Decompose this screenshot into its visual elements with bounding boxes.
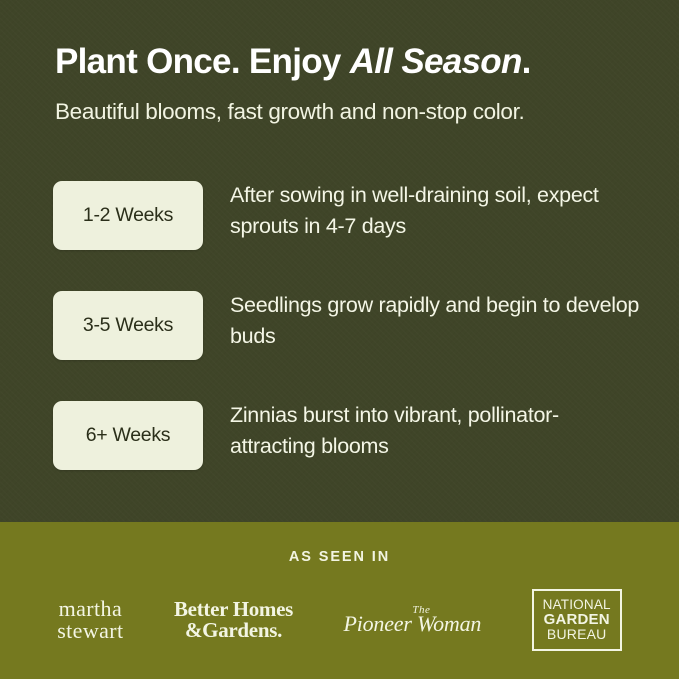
timeline-badge-label: 6+ Weeks (86, 424, 171, 447)
logo-national-garden-bureau: NATIONAL GARDEN BUREAU (532, 589, 622, 651)
press-logo-row: martha stewart Better Homes &Gardens. Th… (0, 584, 679, 656)
logo-martha-stewart-line-2: stewart (57, 620, 123, 642)
headline-part-1: Plant Once. Enjoy (55, 42, 350, 81)
page-title: Plant Once. Enjoy All Season. (55, 44, 655, 81)
logo-martha-stewart-line-1: martha (59, 598, 122, 620)
timeline-badge-1: 1-2 Weeks (53, 181, 203, 250)
list-item: 1-2 Weeks After sowing in well-draining … (53, 181, 643, 291)
logo-bhg-line-2: &Gardens. (185, 620, 282, 641)
list-item: 6+ Weeks Zinnias burst into vibrant, pol… (53, 401, 643, 511)
timeline-description-1: After sowing in well-draining soil, expe… (230, 180, 642, 241)
hero-panel: Plant Once. Enjoy All Season. Beautiful … (0, 0, 679, 522)
logo-bhg-line-1: Better Homes (174, 599, 293, 620)
timeline-badge-label: 3-5 Weeks (83, 314, 173, 337)
timeline-description-2: Seedlings grow rapidly and begin to deve… (230, 290, 642, 351)
logo-ngb-line-3: BUREAU (547, 627, 607, 641)
logo-pioneer-line-2: Pioneer Woman (343, 613, 481, 635)
as-seen-in-band: AS SEEN IN martha stewart Better Homes &… (0, 522, 679, 679)
logo-ngb-line-2: GARDEN (544, 612, 610, 627)
as-seen-in-title: AS SEEN IN (0, 549, 679, 565)
headline-part-2: . (522, 42, 531, 81)
logo-the-pioneer-woman: The Pioneer Woman (343, 605, 481, 635)
timeline-badge-2: 3-5 Weeks (53, 291, 203, 360)
page-subtitle: Beautiful blooms, fast growth and non-st… (55, 98, 665, 125)
logo-ngb-line-1: NATIONAL (543, 598, 611, 612)
timeline-description-3: Zinnias burst into vibrant, pollinator-a… (230, 400, 642, 461)
list-item: 3-5 Weeks Seedlings grow rapidly and beg… (53, 291, 643, 401)
logo-martha-stewart: martha stewart (57, 598, 123, 642)
growth-timeline-list: 1-2 Weeks After sowing in well-draining … (53, 181, 643, 511)
logo-better-homes-and-gardens: Better Homes &Gardens. (174, 599, 293, 640)
timeline-badge-3: 6+ Weeks (53, 401, 203, 470)
timeline-badge-label: 1-2 Weeks (83, 204, 173, 227)
headline-emphasis: All Season (350, 42, 522, 81)
